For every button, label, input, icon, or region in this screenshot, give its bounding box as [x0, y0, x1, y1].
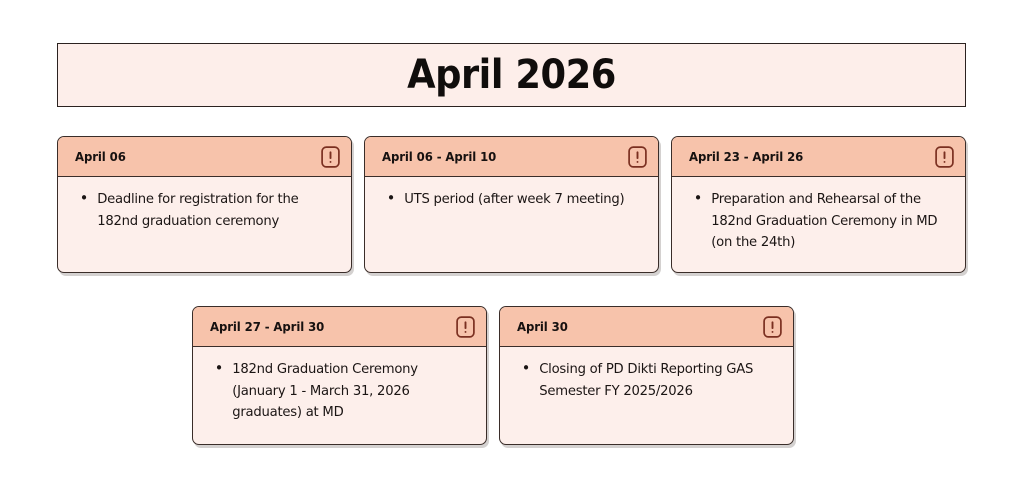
- event-date-label: April 06 - April 10: [382, 150, 496, 164]
- event-item-list: Preparation and Rehearsal of the 182nd G…: [686, 189, 951, 254]
- month-title-banner: April 2026: [57, 43, 966, 107]
- event-card-header: April 06: [58, 137, 351, 177]
- event-card-header: April 06 - April 10: [365, 137, 658, 177]
- event-card-header: April 30: [500, 307, 793, 347]
- exclamation-icon: [763, 316, 782, 338]
- event-card-body: Deadline for registration for the 182nd …: [58, 177, 351, 244]
- exclamation-icon: [935, 146, 954, 168]
- event-card-body: Closing of PD Dikti Reporting GAS Semest…: [500, 347, 793, 414]
- exclamation-icon: [456, 316, 475, 338]
- event-item-list: 182nd Graduation Ceremony (January 1 - M…: [207, 359, 472, 424]
- list-item: Deadline for registration for the 182nd …: [72, 189, 329, 232]
- event-card[interactable]: April 23 - April 26 Preparation and Rehe…: [671, 136, 966, 273]
- event-item-list: Deadline for registration for the 182nd …: [72, 189, 337, 232]
- exclamation-icon: [628, 146, 647, 168]
- list-item: Closing of PD Dikti Reporting GAS Semest…: [514, 359, 771, 402]
- calendar-infographic: April 2026 April 06 Deadline for registr…: [0, 0, 1024, 481]
- event-card-body: 182nd Graduation Ceremony (January 1 - M…: [193, 347, 486, 436]
- event-card[interactable]: April 27 - April 30 182nd Graduation Cer…: [192, 306, 487, 445]
- event-card-header: April 27 - April 30: [193, 307, 486, 347]
- exclamation-icon: [321, 146, 340, 168]
- event-card[interactable]: April 06 Deadline for registration for t…: [57, 136, 352, 273]
- event-date-label: April 06: [75, 150, 126, 164]
- page-title: April 2026: [407, 55, 616, 95]
- event-date-label: April 30: [517, 320, 568, 334]
- event-card-body: Preparation and Rehearsal of the 182nd G…: [672, 177, 965, 266]
- list-item: UTS period (after week 7 meeting): [379, 189, 636, 211]
- event-card-body: UTS period (after week 7 meeting): [365, 177, 658, 223]
- list-item: 182nd Graduation Ceremony (January 1 - M…: [207, 359, 464, 424]
- event-date-label: April 27 - April 30: [210, 320, 324, 334]
- event-date-label: April 23 - April 26: [689, 150, 803, 164]
- list-item: Preparation and Rehearsal of the 182nd G…: [686, 189, 943, 254]
- event-card-header: April 23 - April 26: [672, 137, 965, 177]
- event-item-list: UTS period (after week 7 meeting): [379, 189, 644, 211]
- event-item-list: Closing of PD Dikti Reporting GAS Semest…: [514, 359, 779, 402]
- event-card[interactable]: April 30 Closing of PD Dikti Reporting G…: [499, 306, 794, 445]
- event-card[interactable]: April 06 - April 10 UTS period (after we…: [364, 136, 659, 273]
